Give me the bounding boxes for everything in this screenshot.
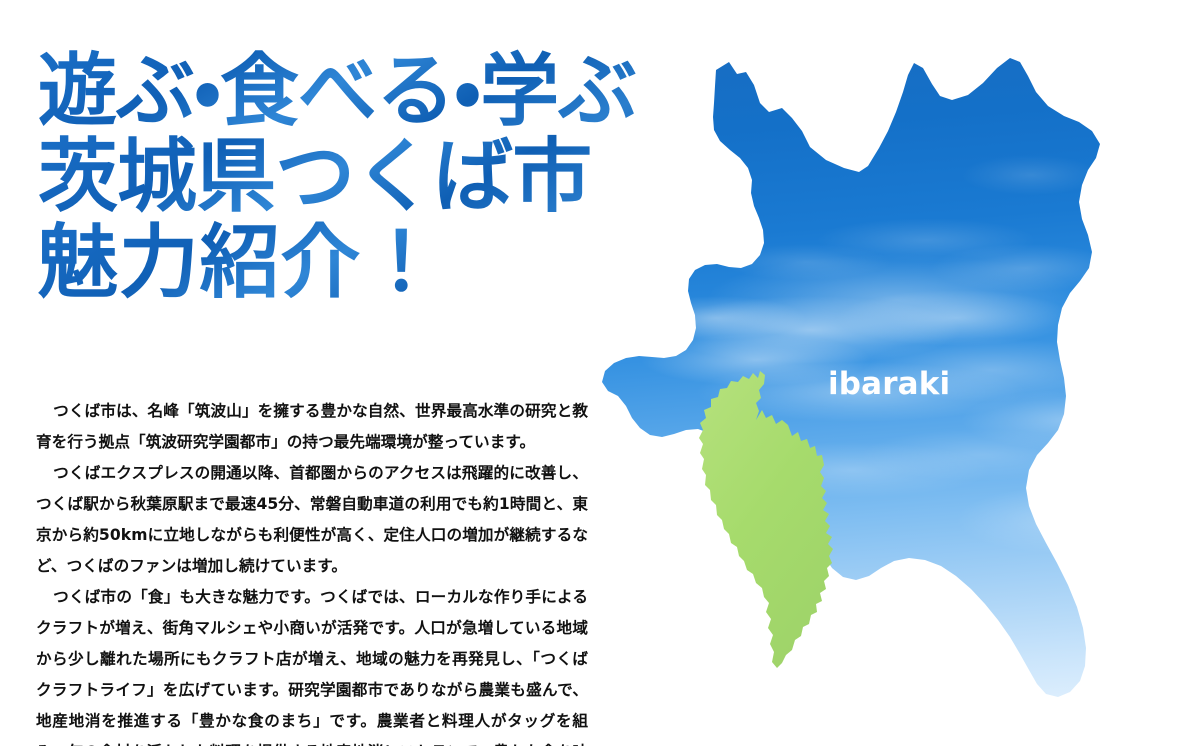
headline-line-1: 遊ぶ・食べる・学ぶ (38, 48, 838, 134)
page-title: 遊ぶ・食べる・学ぶ 茨城県つくば市 魅力紹介！ (38, 48, 838, 306)
body-paragraph-3: つくば市の「食」も大きな魅力です。つくばでは、ローカルな作り手によるクラフトが増… (36, 582, 588, 746)
intro-body-text: つくば市は、名峰「筑波山」を擁する豊かな自然、世界最高水準の研究と教育を行う拠点… (36, 396, 588, 746)
headline-line-3: 魅力紹介！ (38, 220, 838, 306)
poster-canvas: ibaraki 遊ぶ・食べる・学ぶ 茨城県つくば市 魅力紹介！ つくば市は、名峰… (0, 0, 1200, 746)
headline-line-2: 茨城県つくば市 (38, 134, 838, 220)
body-paragraph-1: つくば市は、名峰「筑波山」を擁する豊かな自然、世界最高水準の研究と教育を行う拠点… (36, 396, 588, 458)
body-paragraph-2: つくばエクスプレスの開通以降、首都圏からのアクセスは飛躍的に改善し、つくば駅から… (36, 458, 588, 582)
